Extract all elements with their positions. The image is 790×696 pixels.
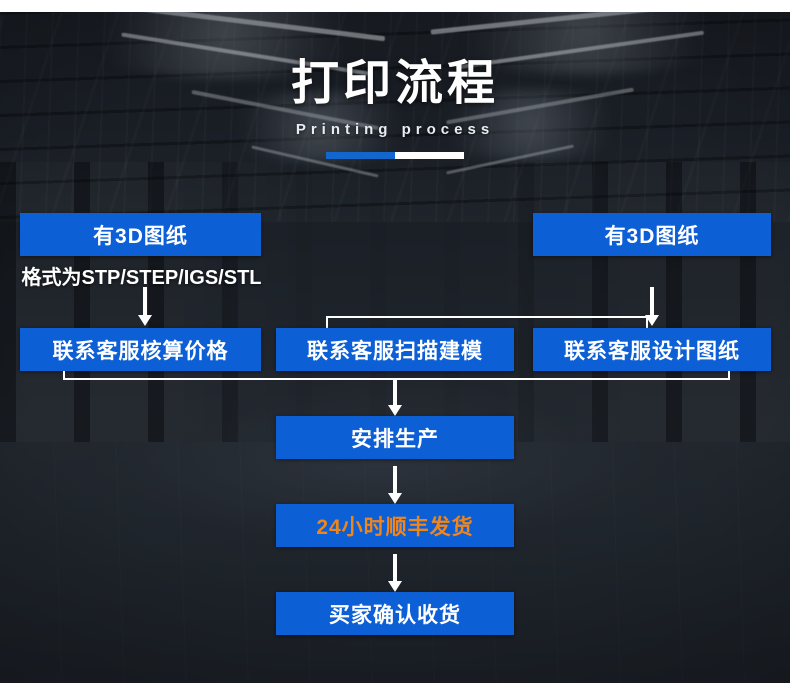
box-has-3d-drawing-right[interactable]: 有3D图纸: [533, 213, 771, 256]
bracket-top-left-drop: [326, 316, 328, 328]
box-contact-service-pricing[interactable]: 联系客服核算价格: [20, 328, 261, 371]
bracket-top-right-drop: [646, 316, 648, 328]
merge-bracket-left-riser: [63, 371, 65, 378]
box-contact-service-scan-modeling[interactable]: 联系客服扫描建模: [276, 328, 514, 371]
caption-file-formats: 格式为STP/STEP/IGS/STL: [14, 261, 269, 290]
merge-bracket-right-riser: [728, 371, 730, 378]
box-24h-sf-express-shipping[interactable]: 24小时顺丰发货: [276, 504, 514, 547]
flowchart: 有3D图纸 格式为STP/STEP/IGS/STL 有3D图纸 联系客服核算价格…: [0, 0, 790, 696]
box-buyer-confirm-receipt[interactable]: 买家确认收货: [276, 592, 514, 635]
printing-process-infographic: 打印流程 Printing process 有3D图纸 格式为STP/STEP/…: [0, 0, 790, 696]
arrow-down-to-production: [388, 378, 402, 416]
bracket-top-horizontal: [326, 316, 648, 318]
box-contact-service-design-drawing[interactable]: 联系客服设计图纸: [533, 328, 771, 371]
arrow-down-to-confirm: [388, 554, 402, 592]
arrow-down-left: [138, 287, 152, 326]
arrow-down-to-shipping: [388, 466, 402, 504]
box-has-3d-drawing-left[interactable]: 有3D图纸: [20, 213, 261, 256]
box-arrange-production[interactable]: 安排生产: [276, 416, 514, 459]
